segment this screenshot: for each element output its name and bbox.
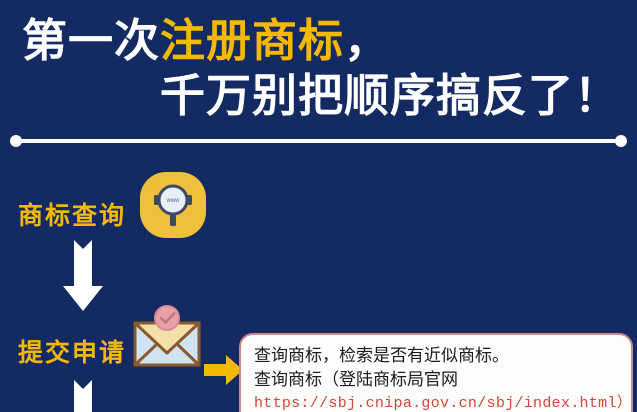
- search-icon-background: www: [140, 172, 206, 238]
- magnifier-search-icon: www: [140, 172, 206, 238]
- title-line-1-comma: ，: [344, 15, 390, 66]
- step-label-submit-application: 提交申请: [18, 333, 126, 369]
- title-line-1-gold-part: 注册商标: [160, 15, 344, 66]
- magnifier-glyph-icon: www: [140, 172, 206, 238]
- poster-title: 第一次注册商标， 千万别把顺序搞反了！: [0, 0, 637, 128]
- title-line-1: 第一次注册商标，: [22, 18, 390, 63]
- title-line-1-white-part: 第一次: [22, 15, 160, 66]
- svg-text:www: www: [166, 198, 181, 204]
- divider: [14, 139, 623, 143]
- down-arrow-icon-2: [61, 380, 105, 412]
- divider-dot-left-icon: [10, 135, 22, 147]
- infographic-poster: 第一次注册商标， 千万别把顺序搞反了！ 商标查询 查询商标，检索是否有近似商标。…: [0, 0, 637, 412]
- envelope-glyph-icon: [128, 305, 206, 371]
- title-line-2: 千万别把顺序搞反了！: [160, 73, 620, 118]
- step-label-trademark-search: 商标查询: [18, 196, 126, 232]
- divider-dot-right-icon: [615, 135, 627, 147]
- envelope-with-check-badge-icon: [128, 305, 206, 376]
